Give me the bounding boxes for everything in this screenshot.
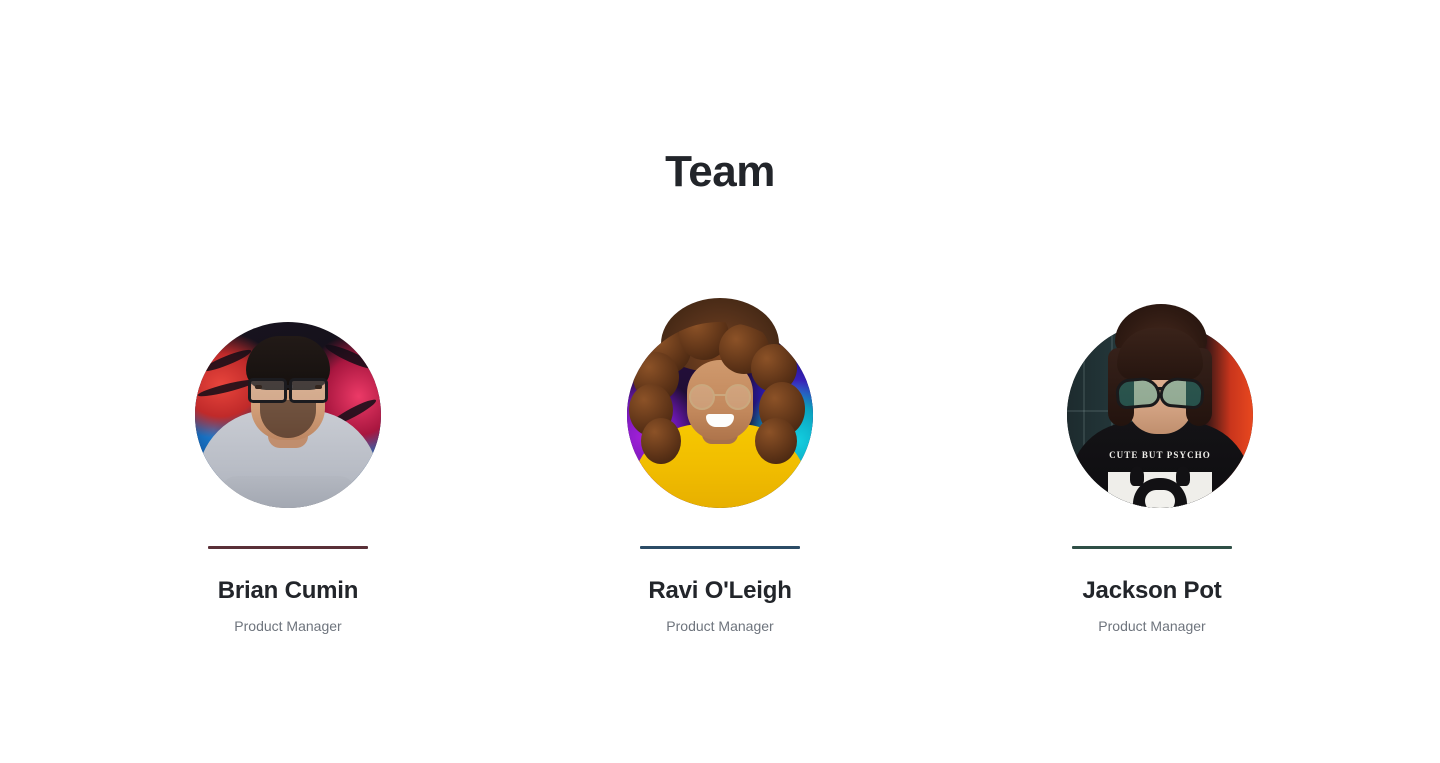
graffiti-streak — [323, 341, 378, 373]
page-title: Team — [0, 147, 1440, 198]
avatar-photo-brian-cumin[interactable] — [195, 322, 381, 508]
glasses-lens — [289, 378, 328, 403]
person-eye — [255, 385, 262, 389]
team-member-card[interactable]: CUTE BUT PSYCHO — [960, 258, 1344, 635]
avatar-clip: CUTE BUT PSYCHO — [1067, 322, 1253, 508]
member-divider — [1072, 546, 1232, 549]
team-page: Team — [0, 0, 1440, 763]
avatar-background-graffiti — [195, 322, 381, 508]
bulldog-muzzle — [1145, 490, 1175, 508]
glasses-lens — [248, 378, 287, 403]
member-divider — [640, 546, 800, 549]
avatar[interactable]: CUTE BUT PSYCHO — [1054, 258, 1250, 508]
team-member-grid: Brian Cumin Product Manager — [96, 258, 1344, 635]
member-divider — [208, 546, 368, 549]
bulldog-ear — [1176, 466, 1190, 486]
avatar-photo-ravi-oleigh[interactable] — [627, 322, 813, 508]
person-curly-hair — [641, 418, 681, 464]
member-role: Product Manager — [1098, 617, 1205, 635]
person-crossed-arms — [220, 476, 356, 508]
person-hair — [1117, 328, 1203, 380]
person-curly-hair — [755, 418, 797, 464]
glasses-lens — [1159, 376, 1205, 410]
eyeglasses-icon — [682, 384, 758, 406]
member-role: Product Manager — [234, 617, 341, 635]
glasses-lens — [1115, 376, 1161, 410]
person-smile — [706, 414, 734, 427]
avatar-background-neon — [627, 322, 813, 508]
tshirt-slogan-text: CUTE BUT PSYCHO — [1095, 450, 1225, 460]
avatar[interactable] — [622, 258, 818, 508]
person-eye — [315, 385, 322, 389]
glasses-lens — [689, 384, 715, 410]
member-name: Jackson Pot — [1082, 577, 1221, 606]
avatar-clip — [627, 322, 813, 508]
avatar-background-studio: CUTE BUT PSYCHO — [1067, 322, 1253, 508]
member-name: Brian Cumin — [218, 577, 358, 606]
avatar-clip — [195, 322, 381, 508]
avatar-photo-jackson-pot[interactable]: CUTE BUT PSYCHO — [1067, 322, 1253, 508]
glasses-lens — [725, 384, 751, 410]
avatar[interactable] — [190, 258, 386, 508]
team-member-card[interactable]: Brian Cumin Product Manager — [96, 258, 480, 635]
eyeglasses-icon — [1116, 378, 1204, 404]
member-name: Ravi O'Leigh — [648, 577, 791, 606]
team-member-card[interactable]: Ravi O'Leigh Product Manager — [528, 258, 912, 635]
member-role: Product Manager — [666, 617, 773, 635]
